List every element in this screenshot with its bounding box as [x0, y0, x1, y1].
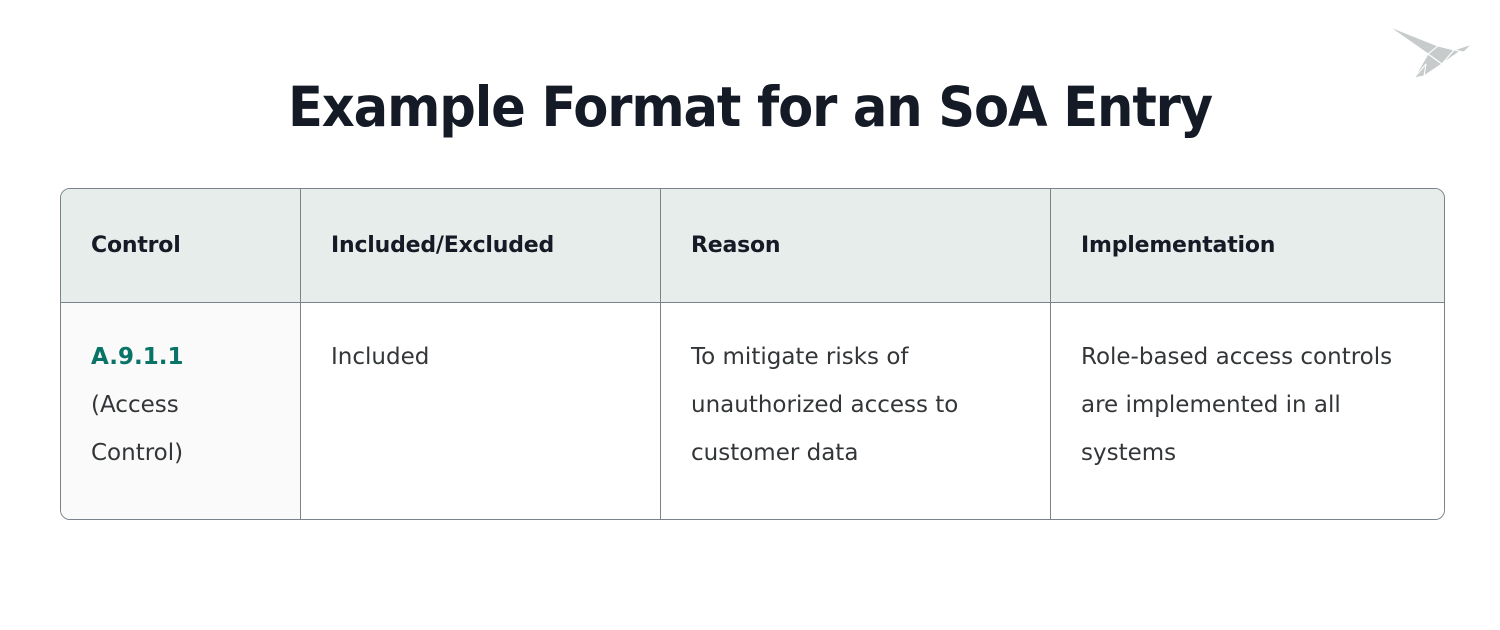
column-header-control: Control	[61, 189, 301, 303]
reason-value: To mitigate risks of unauthorized access…	[691, 333, 1016, 477]
table-row: A.9.1.1 (Access Control) Included To mit…	[61, 303, 1444, 519]
cell-included-excluded: Included	[301, 303, 661, 519]
table-header-row: Control Included/Excluded Reason Impleme…	[61, 189, 1444, 303]
soa-table: Control Included/Excluded Reason Impleme…	[60, 188, 1445, 520]
control-name: (Access Control)	[91, 381, 266, 477]
column-header-reason: Reason	[661, 189, 1051, 303]
soa-table-wrapper: Control Included/Excluded Reason Impleme…	[60, 188, 1443, 520]
column-header-implementation: Implementation	[1051, 189, 1444, 303]
page-title: Example Format for an SoA Entry	[53, 72, 1448, 142]
included-excluded-value: Included	[331, 333, 626, 381]
table-body: A.9.1.1 (Access Control) Included To mit…	[61, 303, 1444, 519]
implementation-value: Role-based access controls are implement…	[1081, 333, 1410, 477]
column-header-included-excluded: Included/Excluded	[301, 189, 661, 303]
page-root: Example Format for an SoA Entry Control …	[0, 0, 1500, 630]
cell-implementation: Role-based access controls are implement…	[1051, 303, 1444, 519]
table-header: Control Included/Excluded Reason Impleme…	[61, 189, 1444, 303]
cell-reason: To mitigate risks of unauthorized access…	[661, 303, 1051, 519]
control-code: A.9.1.1	[91, 333, 266, 381]
cell-control: A.9.1.1 (Access Control)	[61, 303, 301, 519]
